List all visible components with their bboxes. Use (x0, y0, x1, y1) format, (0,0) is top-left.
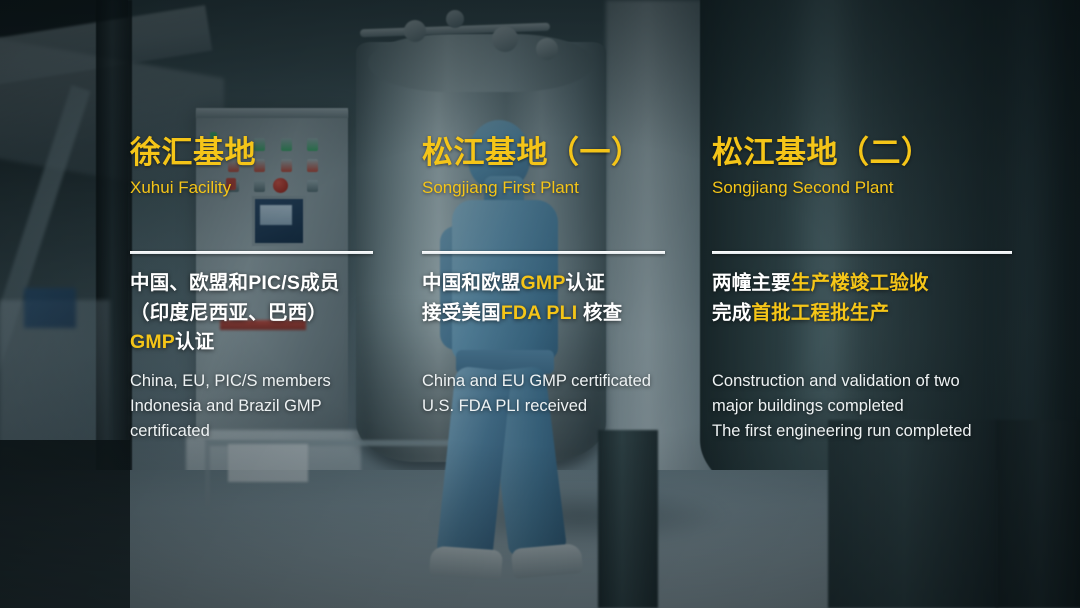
subtitle-line: Construction and validation of two (712, 369, 972, 394)
highlight-text: 中国和欧盟 (422, 272, 521, 294)
highlight-text: 认证 (566, 272, 605, 294)
subtitle-line: China and EU GMP certificated (422, 369, 651, 394)
facility-highlights: 两幢主要生产楼竣工验收完成首批工程批生产 (712, 269, 929, 328)
highlight-line: （印度尼西亚、巴西） (130, 299, 340, 329)
highlight-text: 两幢主要 (712, 272, 791, 294)
highlight-text: （印度尼西亚、巴西） (130, 302, 327, 324)
highlight-line: 中国、欧盟和PIC/S成员 (130, 269, 340, 299)
subtitle-line: major buildings completed (712, 394, 972, 419)
highlight-accent-text: 首批工程批生产 (751, 302, 889, 324)
subtitle-line: China, EU, PIC/S members (130, 369, 331, 394)
facility-title-cn: 松江基地（一） (422, 136, 690, 171)
highlight-accent-text: FDA PLI (501, 302, 578, 324)
facility-title-en: Songjiang First Plant (422, 178, 690, 198)
subtitle-line: The first engineering run completed (712, 419, 972, 444)
facility-title-en: Xuhui Facility (130, 178, 392, 198)
facility-highlights: 中国、欧盟和PIC/S成员（印度尼西亚、巴西）GMP认证 (130, 269, 340, 358)
subtitle-line: U.S. FDA PLI received (422, 394, 651, 419)
highlight-line: 两幢主要生产楼竣工验收 (712, 269, 929, 299)
facility-subtitle-en: Construction and validation of twomajor … (712, 369, 972, 443)
highlight-line: GMP认证 (130, 328, 340, 358)
facility-title-cn: 徐汇基地 (130, 136, 392, 171)
highlight-line: 接受美国FDA PLI 核查 (422, 299, 622, 329)
facility-subtitle-en: China and EU GMP certificatedU.S. FDA PL… (422, 369, 651, 419)
highlight-text: 完成 (712, 302, 751, 324)
highlight-text: 核查 (577, 302, 622, 324)
facility-title-en: Songjiang Second Plant (712, 178, 1022, 198)
highlight-accent-text: GMP (130, 331, 175, 353)
highlight-text: 中国、欧盟和PIC/S成员 (130, 272, 340, 294)
facility-highlights: 中国和欧盟GMP认证接受美国FDA PLI 核查 (422, 269, 622, 328)
highlight-line: 完成首批工程批生产 (712, 299, 929, 329)
facility-column-songjiang-second: 松江基地（二） Songjiang Second Plant 两幢主要生产楼竣工… (712, 136, 1022, 198)
facility-subtitle-en: China, EU, PIC/S membersIndonesia and Br… (130, 369, 331, 443)
highlight-text: 认证 (175, 331, 214, 353)
highlight-accent-text: GMP (521, 272, 566, 294)
facility-column-xuhui: 徐汇基地 Xuhui Facility 中国、欧盟和PIC/S成员（印度尼西亚、… (130, 136, 392, 198)
column-divider (712, 251, 1012, 254)
column-divider (130, 251, 373, 254)
highlight-text: 接受美国 (422, 302, 501, 324)
facility-column-songjiang-first: 松江基地（一） Songjiang First Plant 中国和欧盟GMP认证… (422, 136, 690, 198)
facility-title-cn: 松江基地（二） (712, 136, 1022, 171)
slide-content: 徐汇基地 Xuhui Facility 中国、欧盟和PIC/S成员（印度尼西亚、… (0, 0, 1080, 608)
subtitle-line: Indonesia and Brazil GMP (130, 394, 331, 419)
highlight-accent-text: 生产楼竣工验收 (791, 272, 929, 294)
slide-root: 徐汇基地 Xuhui Facility 中国、欧盟和PIC/S成员（印度尼西亚、… (0, 0, 1080, 608)
subtitle-line: certificated (130, 419, 331, 444)
column-divider (422, 251, 665, 254)
highlight-line: 中国和欧盟GMP认证 (422, 269, 622, 299)
